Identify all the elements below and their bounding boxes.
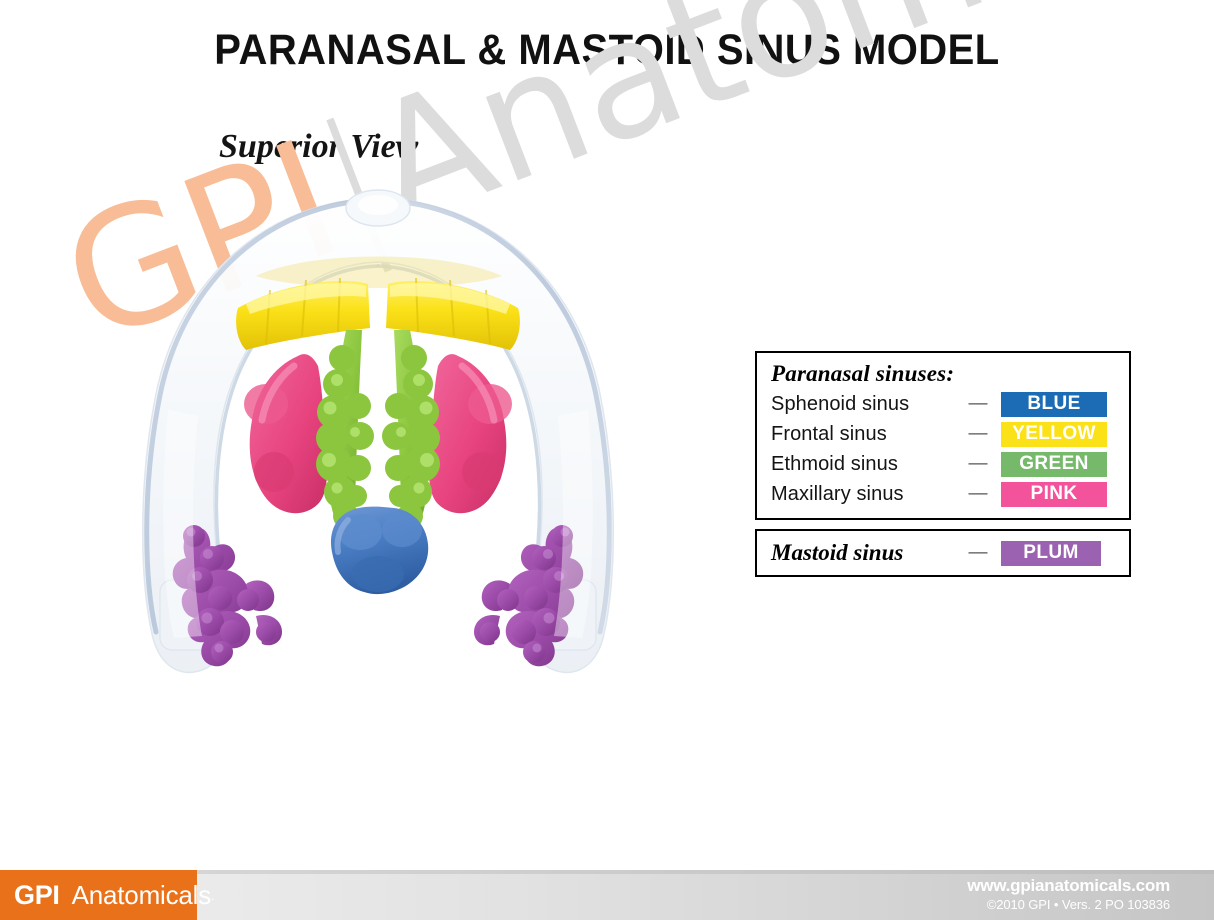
footer-copyright: ©2010 GPI • Vers. 2 PO 103836 <box>987 897 1170 912</box>
legend-label-mastoid: Mastoid sinus <box>771 540 955 566</box>
sinus-model-image <box>60 180 700 700</box>
logo-gpi-text: GPI <box>14 880 60 911</box>
legend-swatch-green: GREEN <box>1001 452 1107 477</box>
legend: Paranasal sinuses: Sphenoid sinus — BLUE… <box>755 351 1131 577</box>
legend-swatch-yellow: YELLOW <box>1001 422 1107 447</box>
footer-website-url[interactable]: www.gpianatomicals.com <box>967 876 1170 896</box>
logo-registered-icon: . <box>211 888 214 903</box>
legend-row-ethmoid: Ethmoid sinus — GREEN <box>771 449 1119 479</box>
legend-label-sphenoid: Sphenoid sinus <box>771 393 955 416</box>
legend-row-frontal: Frontal sinus — YELLOW <box>771 419 1119 449</box>
legend-label-maxillary: Maxillary sinus <box>771 483 955 506</box>
legend-row-mastoid: Mastoid sinus — PLUM <box>771 537 1119 569</box>
legend-swatch-blue: BLUE <box>1001 392 1107 417</box>
poster-canvas: PARANASAL & MASTOID SINUS MODEL Superior… <box>0 0 1214 920</box>
gpi-logo: GPI Anatomicals. <box>0 870 197 920</box>
legend-row-maxillary: Maxillary sinus — PINK <box>771 479 1119 509</box>
legend-row-sphenoid: Sphenoid sinus — BLUE <box>771 389 1119 419</box>
legend-dash: — <box>955 542 1001 564</box>
footer-bar: GPI Anatomicals. www.gpianatomicals.com … <box>0 870 1214 920</box>
logo-anatomicals-text: Anatomicals <box>72 880 211 911</box>
legend-label-frontal: Frontal sinus <box>771 423 955 446</box>
legend-heading: Paranasal sinuses: <box>771 361 1119 387</box>
legend-dash: — <box>955 483 1001 505</box>
legend-dash: — <box>955 393 1001 415</box>
view-subtitle: Superior View <box>219 128 418 166</box>
legend-box-paranasal: Paranasal sinuses: Sphenoid sinus — BLUE… <box>755 351 1131 520</box>
legend-swatch-pink: PINK <box>1001 482 1107 507</box>
sphenoid-sinus <box>331 507 428 594</box>
legend-label-ethmoid: Ethmoid sinus <box>771 453 955 476</box>
legend-dash: — <box>955 423 1001 445</box>
page-title: PARANASAL & MASTOID SINUS MODEL <box>42 26 1171 75</box>
legend-swatch-plum: PLUM <box>1001 541 1101 566</box>
legend-dash: — <box>955 453 1001 475</box>
legend-box-mastoid: Mastoid sinus — PLUM <box>755 529 1131 577</box>
